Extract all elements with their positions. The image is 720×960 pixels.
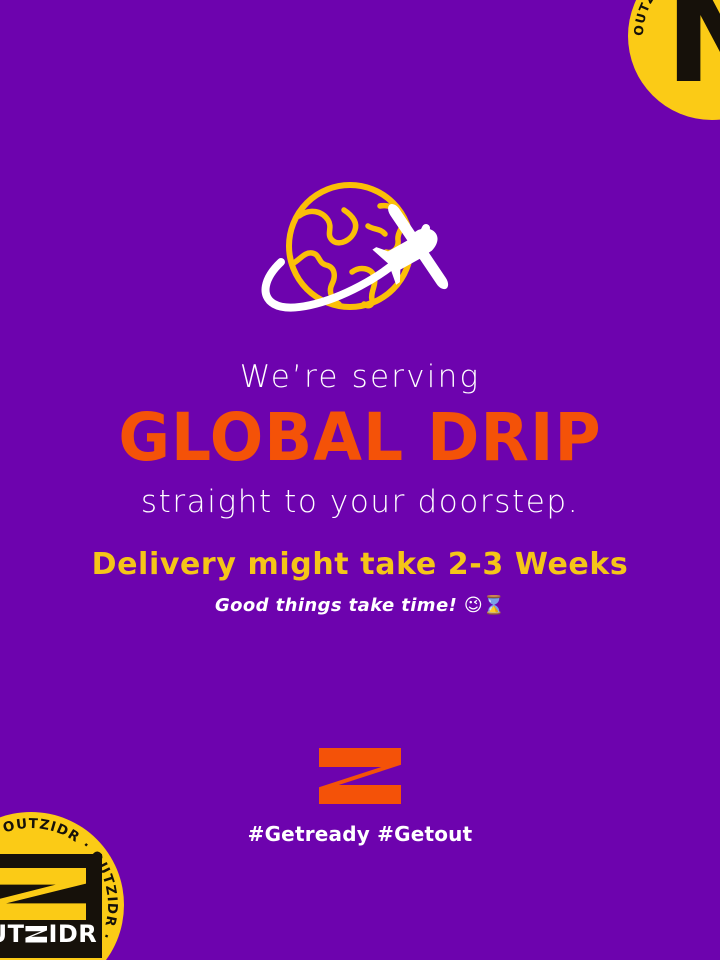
headline-block: We’re serving GLOBAL DRIP straight to yo…	[0, 360, 720, 520]
headline-title: GLOBAL DRIP	[0, 404, 720, 471]
headline-kicker: We’re serving	[0, 360, 720, 394]
hero-illustration	[0, 168, 720, 338]
brand-badge-bottom-left: OUTZIDR · OUTZIDR · OUTZIDR · OUT IDR	[0, 812, 124, 960]
badge-wordmark: OUT IDR	[0, 922, 97, 946]
badge-core-top-right: N	[662, 0, 720, 94]
badge-z-mark-icon	[0, 868, 86, 920]
headline-subline: straight to your doorstep.	[0, 485, 720, 519]
outzidr-z-logo-icon	[319, 748, 401, 804]
badge-wordmark-prefix: OUT	[0, 922, 24, 946]
badge-wordmark-z-icon	[25, 926, 47, 943]
delivery-notice-block: Delivery might take 2-3 Weeks Good thing…	[0, 548, 720, 616]
delivery-tagline: Good things take time! 😉⌛	[0, 595, 720, 617]
brand-badge-top-right: OUTZIDR · OUTZIDR · OUTZIDR · N	[628, 0, 720, 120]
badge-center-letter: N	[665, 0, 720, 102]
delivery-tagline-emoji: 😉⌛	[464, 595, 505, 616]
delivery-tagline-text: Good things take time!	[215, 595, 457, 616]
badge-wordmark-suffix: IDR	[48, 922, 97, 946]
badge-core-bottom-left: OUT IDR	[0, 854, 102, 958]
delivery-time-text: Delivery might take 2-3 Weeks	[0, 548, 720, 583]
footer-hashtags: #Getready #Getout	[248, 824, 473, 844]
poster-canvas: OUTZIDR · OUTZIDR · OUTZIDR · N	[0, 0, 720, 960]
globe-airplane-icon	[240, 168, 480, 338]
